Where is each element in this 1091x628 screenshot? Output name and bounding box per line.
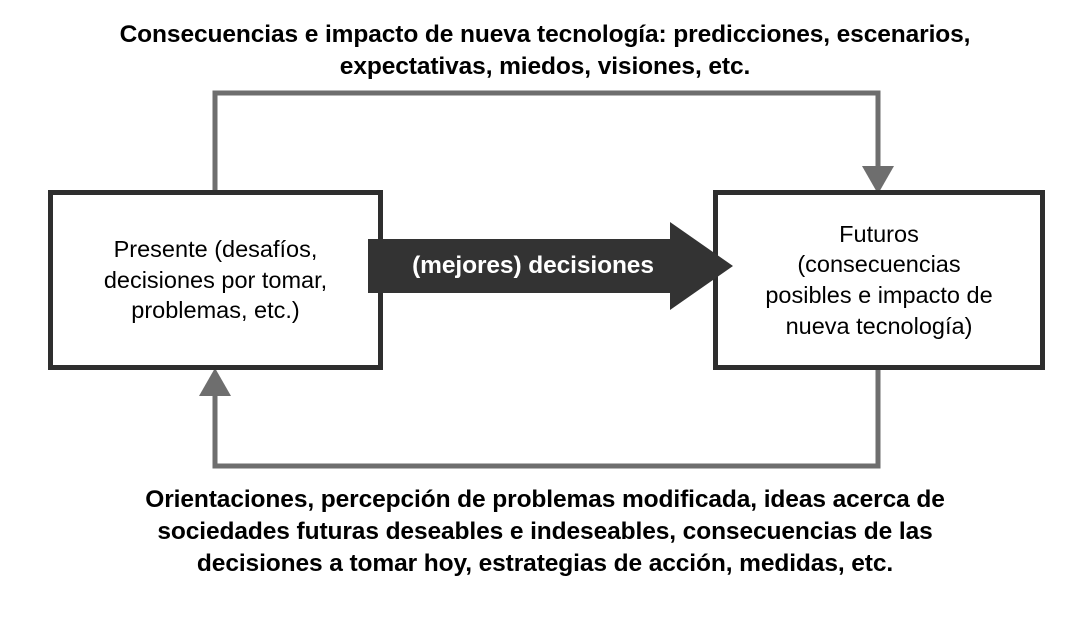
box-present-label: Presente (desafíos, decisiones por tomar… [96, 234, 335, 326]
bottom-feedback-caption: Orientaciones, percepción de problemas m… [95, 484, 995, 580]
bottom-feedback-arrow [199, 368, 878, 466]
decisions-arrow-shape [368, 220, 736, 312]
decisions-arrow-polygon [368, 222, 733, 310]
top-feedback-path [215, 93, 878, 192]
box-present[interactable]: Presente (desafíos, decisiones por tomar… [48, 190, 383, 370]
diagram-canvas: Consecuencias e impacto de nueva tecnolo… [0, 0, 1091, 628]
box-futures[interactable]: Futuros (consecuencias posibles e impact… [713, 190, 1045, 370]
box-futures-label: Futuros (consecuencias posibles e impact… [757, 219, 1000, 341]
decisions-arrow[interactable] [368, 220, 736, 312]
bottom-feedback-arrowhead [199, 368, 231, 396]
top-feedback-arrow [215, 93, 894, 194]
bottom-feedback-path [215, 368, 878, 466]
